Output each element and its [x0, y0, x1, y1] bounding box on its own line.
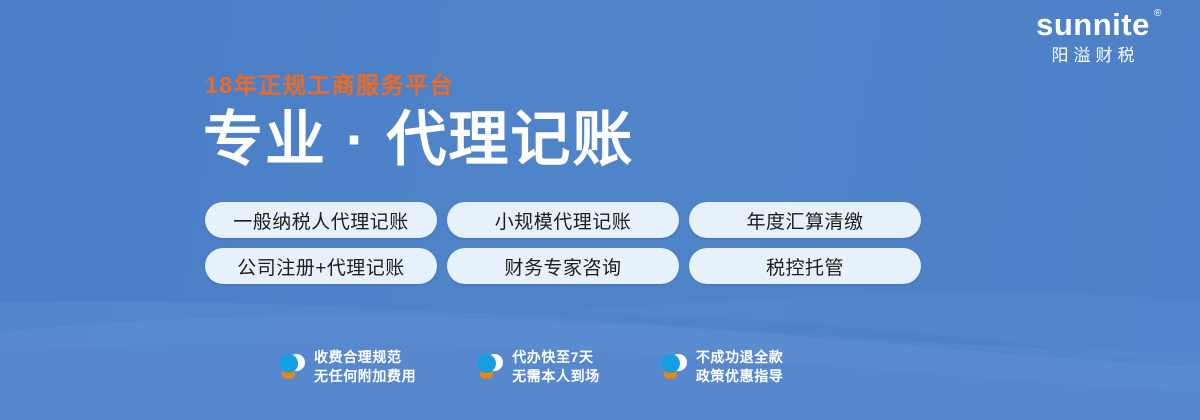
feature-text-pricing: 收费合理规范 无任何附加费用	[314, 350, 416, 383]
logo-wordmark: sunnite ®	[1036, 8, 1150, 42]
promotional-banner: sunnite ® 阳溢财税 18年正规工商服务平台 专业 · 代理记账 一般纳…	[0, 0, 1200, 420]
feature-item-pricing: 收费合理规范 无任何附加费用	[278, 350, 416, 383]
service-pill-general-taxpayer[interactable]: 一般纳税人代理记账	[205, 202, 437, 238]
service-pill-small-scale[interactable]: 小规模代理记账	[447, 202, 679, 238]
feature-line-1: 收费合理规范	[314, 350, 416, 365]
feature-line-2: 无任何附加费用	[314, 369, 416, 384]
logo-chinese-name: 阳溢财税	[1008, 47, 1178, 64]
brand-logo[interactable]: sunnite ® 阳溢财税	[1008, 8, 1178, 64]
service-pill-financial-consulting[interactable]: 财务专家咨询	[447, 248, 679, 284]
banner-title: 专业 · 代理记账	[203, 108, 634, 171]
feature-line-1: 代办快至7天	[512, 350, 600, 365]
feature-strip: 收费合理规范 无任何附加费用 代办快至7天 无需本人到场 不成功退全款	[278, 350, 783, 383]
service-pill-annual-settlement[interactable]: 年度汇算清缴	[689, 202, 921, 238]
feature-line-1: 不成功退全款	[696, 350, 784, 365]
headline-block: 18年正规工商服务平台 专业 · 代理记账	[205, 72, 634, 171]
feature-item-guarantee: 不成功退全款 政策优惠指导	[660, 350, 784, 383]
feature-item-speed: 代办快至7天 无需本人到场	[476, 350, 600, 383]
drop-moon-icon	[278, 352, 304, 382]
drop-moon-icon	[660, 352, 686, 382]
registered-trademark-icon: ®	[1154, 9, 1162, 19]
feature-text-guarantee: 不成功退全款 政策优惠指导	[696, 350, 784, 383]
service-pill-grid: 一般纳税人代理记账 小规模代理记账 年度汇算清缴 公司注册+代理记账 财务专家咨…	[205, 202, 921, 284]
feature-line-2: 政策优惠指导	[696, 369, 784, 384]
banner-subtitle: 18年正规工商服务平台	[205, 72, 634, 100]
logo-wordmark-text: sunnite	[1036, 7, 1150, 42]
feature-text-speed: 代办快至7天 无需本人到场	[512, 350, 600, 383]
drop-moon-icon	[476, 352, 502, 382]
service-pill-company-registration[interactable]: 公司注册+代理记账	[205, 248, 437, 284]
feature-line-2: 无需本人到场	[512, 369, 600, 384]
service-pill-tax-control-hosting[interactable]: 税控托管	[689, 248, 921, 284]
